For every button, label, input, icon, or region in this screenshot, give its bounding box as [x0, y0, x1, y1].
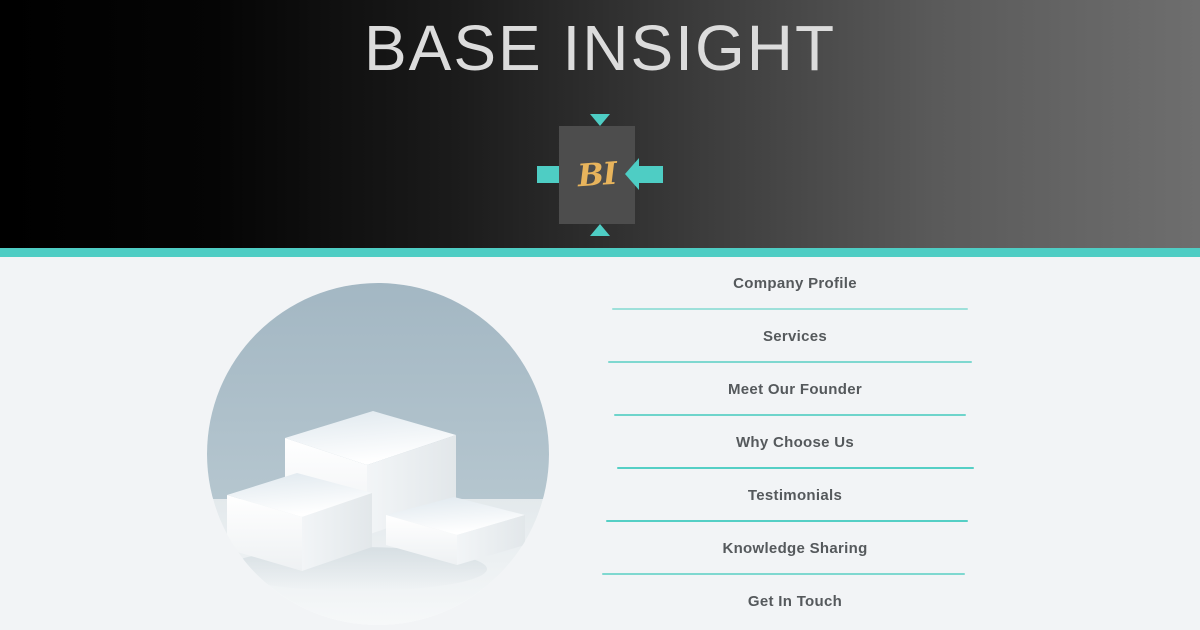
menu-item-why-choose-us[interactable]: Why Choose Us	[600, 416, 990, 469]
triangle-down-icon	[590, 224, 610, 236]
menu-item-label: Get In Touch	[748, 593, 842, 610]
menu-item-meet-our-founder[interactable]: Meet Our Founder	[600, 363, 990, 416]
menu-item-label: Services	[763, 328, 827, 345]
accent-divider-bar	[0, 248, 1200, 257]
menu-item-get-in-touch[interactable]: Get In Touch	[600, 575, 990, 628]
menu-item-label: Knowledge Sharing	[722, 540, 867, 557]
menu-item-label: Testimonials	[748, 487, 842, 504]
page-body: Company Profile Services Meet Our Founde…	[0, 257, 1200, 630]
menu-label: Why Choose Us	[736, 434, 854, 451]
podium-illustration	[207, 283, 549, 625]
arrow-left-head-icon	[625, 158, 639, 190]
arrow-right-tail-icon	[637, 166, 663, 183]
hero-image	[207, 283, 549, 625]
menu-item-testimonials[interactable]: Testimonials	[600, 469, 990, 522]
menu-item-label: Meet Our Founder	[728, 381, 862, 398]
brand-logo[interactable]: BI	[537, 114, 663, 236]
page-header: BASE INSIGHT BI	[0, 0, 1200, 248]
menu-item-label: Company Profile	[733, 275, 857, 292]
menu-item-services[interactable]: Services	[600, 310, 990, 363]
menu-item-knowledge-sharing[interactable]: Knowledge Sharing	[600, 522, 990, 575]
menu-item-company-profile[interactable]: Company Profile	[600, 257, 990, 310]
landing-page: BASE INSIGHT BI	[0, 0, 1200, 630]
section-menu[interactable]: Company Profile Services Meet Our Founde…	[600, 257, 990, 630]
page-title: BASE INSIGHT	[0, 8, 1200, 88]
